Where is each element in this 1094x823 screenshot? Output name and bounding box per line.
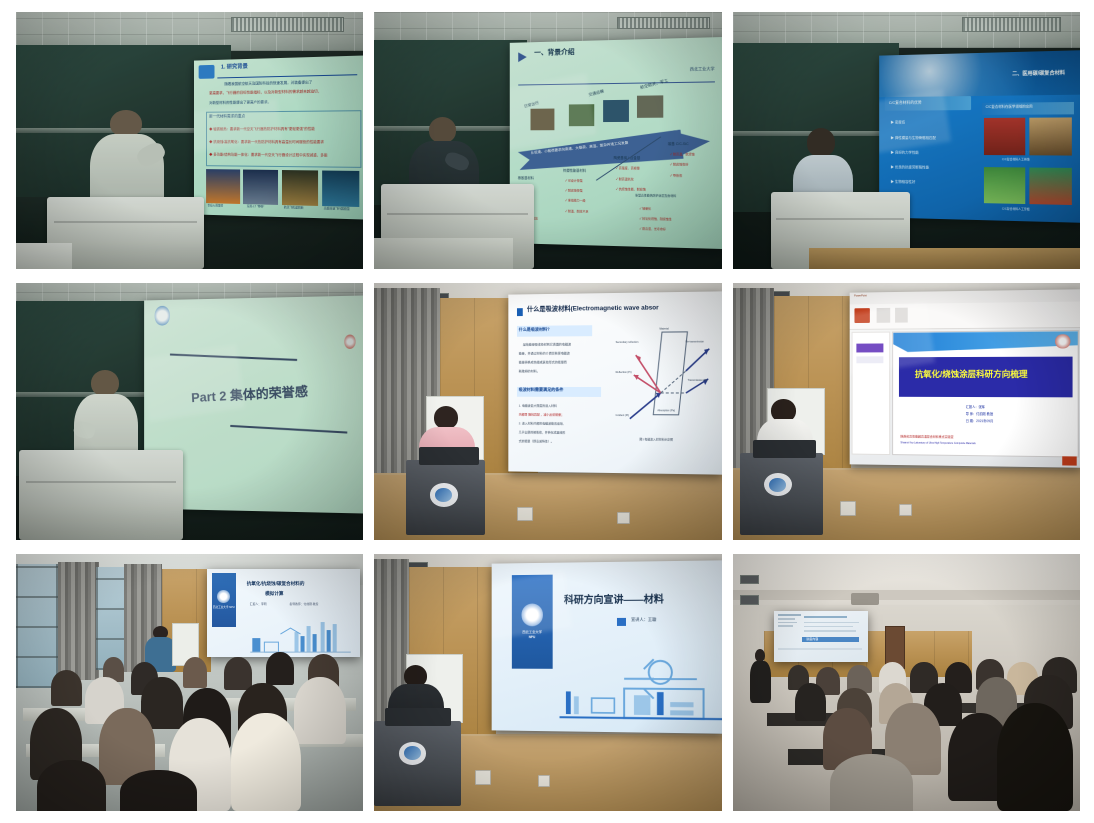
slide-2-col1-i3: ✓ 耐温、耐腐不足 bbox=[565, 210, 588, 213]
slide-2-footnote: 新型高性能热防护涂层及新材料 bbox=[635, 195, 676, 199]
podium-4 bbox=[19, 450, 182, 540]
slide-3-cap0: C/C复合材料人工骨骼 bbox=[1002, 159, 1030, 162]
slide-2-col1-i0: ✓ 可设计性强 bbox=[565, 180, 582, 183]
hall-scene-6: PowerPoint 抗氧化/烧蚀涂层科研方向梳理 汇报人：张辉 bbox=[733, 283, 1080, 540]
slide-6: PowerPoint 抗氧化/烧蚀涂层科研方向梳理 汇报人：张辉 bbox=[850, 289, 1080, 467]
slide-2-org: 西北工业大学 bbox=[690, 67, 715, 72]
slide-5-s2-4: 式的能量（即衰减特性）。 bbox=[519, 440, 554, 443]
audience-scene-9: 讲座内容 bbox=[733, 554, 1080, 811]
slide-6-org-en: Shaanxi Key Laboratory of Ultra-High Tem… bbox=[901, 442, 976, 445]
slide-2-fi-2: ✓ 耐高温、长寿命好 bbox=[640, 228, 666, 232]
laptop-5[interactable] bbox=[419, 447, 478, 465]
slide-8-logo-en: NPU bbox=[529, 636, 536, 639]
slide-2-tl-2: 航空航天、军工 bbox=[640, 79, 669, 90]
slide-1-cap-2: 航天飞机返回舱 bbox=[284, 207, 304, 210]
laptop-6[interactable] bbox=[753, 440, 816, 458]
photo-1[interactable]: 1. 研究背景 随着我国航空航天及国防科技的快速发展，对装备提出了 更高要求，飞… bbox=[16, 12, 363, 269]
slide-7-illustration-icon bbox=[244, 614, 357, 654]
slide-5-dl-2: Re-transmission bbox=[686, 342, 704, 345]
slide-1: 1. 研究背景 随着我国航空航天及国防科技的快速发展，对装备提出了 更高要求，飞… bbox=[194, 55, 364, 220]
slide-6-org-cn: 陕西省高性能超高温复合材料重点实验室 bbox=[901, 435, 954, 439]
photo-8[interactable]: 西北工业大学 NPU 科研方向宣讲——材料 宣讲人：王璇 bbox=[374, 554, 721, 811]
photo-grid: 1. 研究背景 随着我国航空航天及国防科技的快速发展，对装备提出了 更高要求，飞… bbox=[16, 12, 1080, 811]
slide-3-b3: ▶ 优良的抗疲劳断裂性能 bbox=[891, 166, 929, 170]
audience-head bbox=[37, 760, 106, 811]
slide-5: 什么是吸波材料(Electromagnetic wave absor 什么是吸波… bbox=[509, 292, 722, 475]
projector-screen-5: 什么是吸波材料(Electromagnetic wave absor 什么是吸波… bbox=[509, 292, 722, 475]
projector-screen-1: 1. 研究背景 随着我国航空航天及国防科技的快速发展，对装备提出了 更高要求，飞… bbox=[194, 55, 364, 220]
audience-head bbox=[51, 670, 82, 706]
slide-2-col2-i0: ✓ 高强度、高模量 bbox=[616, 168, 640, 171]
audience-head bbox=[997, 703, 1073, 811]
slide-7-meta-1: 指导教师：付前刚 教授 bbox=[290, 603, 319, 606]
podium-emblem-5 bbox=[430, 483, 458, 506]
ppt-app-label: PowerPoint bbox=[854, 295, 867, 298]
slide-9-title: 讲座内容 bbox=[806, 638, 818, 641]
podium-emblem-6 bbox=[764, 473, 792, 496]
slide-2-col3-i2: ✓ 导热性 bbox=[670, 174, 682, 177]
audience-head bbox=[183, 657, 207, 688]
ceiling-projector-icon bbox=[851, 593, 879, 606]
slide-2-col2-i2: ✓ 抗烧蚀性能、耐腐蚀 bbox=[616, 188, 646, 191]
slide-2-col1-i2: ✓ 承载能力一般 bbox=[565, 200, 585, 203]
photo-4[interactable]: Part 2 集体的荣誉感 bbox=[16, 283, 363, 540]
slide-3-right-title: C/C复合材料在医学领域的应用 bbox=[986, 105, 1033, 109]
hall-scene-5: 什么是吸波材料(Electromagnetic wave absor 什么是吸波… bbox=[374, 283, 721, 540]
slide-1-title: 1. 研究背景 bbox=[221, 66, 248, 72]
slide-2-col3-i1: ✓ 耐腐蚀性好 bbox=[670, 164, 688, 167]
classroom-scene-2: 一、背景介绍 西北工业大学 日常出行 交通运输 航空航天、军工 从低速、小载荷要… bbox=[374, 12, 721, 269]
slide-5-s2-1: 内部即 阻抗匹配 ，减小反射能量； bbox=[519, 413, 564, 416]
slide-6-meta-0: 汇报人：张辉 bbox=[966, 405, 985, 408]
ppt-logo-icon bbox=[1055, 334, 1070, 349]
slide-8: 西北工业大学 NPU 科研方向宣讲——材料 宣讲人：王璇 bbox=[492, 560, 722, 733]
audience-head bbox=[795, 683, 826, 722]
slide-2-col2-i1: ✓ 耐高温氧化 bbox=[616, 178, 634, 181]
slide-5-s2-title: 吸波材料需要满足的条件 bbox=[519, 389, 564, 393]
projector-screen-6: PowerPoint 抗氧化/烧蚀涂层科研方向梳理 汇报人：张辉 bbox=[850, 289, 1080, 467]
slide-5-dl-3: Reflection (Pr) bbox=[616, 372, 632, 375]
projector-screen-7: 西北工业大学 NPU 抗氧化/抗烧蚀/碳复合材料的 模拟计算 汇报人：李明 指导… bbox=[207, 569, 360, 656]
slide-5-title: 什么是吸波材料(Electromagnetic wave absor bbox=[527, 305, 659, 313]
slide-1-cap-0: 长征火箭发射 bbox=[207, 205, 223, 208]
slide-7-logo-text: 西北工业大学 NPU bbox=[213, 607, 235, 610]
hall-scene-8: 西北工业大学 NPU 科研方向宣讲——材料 宣讲人：王璇 bbox=[374, 554, 721, 811]
slide-6-meta-2: 日 期：2021年09月 bbox=[966, 420, 994, 423]
slide-5-s1-0: 是指能够吸收投射到它表面的电磁波 bbox=[523, 344, 571, 347]
audience-scene-7: 西北工业大学 NPU 抗氧化/抗烧蚀/碳复合材料的 模拟计算 汇报人：李明 指导… bbox=[16, 554, 363, 811]
audience-head bbox=[294, 677, 346, 744]
slide-5-s1-1: 能量，并通过材料的介质损耗使电磁波 bbox=[519, 353, 570, 356]
slide-2-title: 一、背景介绍 bbox=[534, 49, 574, 57]
slide-6-meta-1: 导 师：付前刚 教授 bbox=[966, 413, 993, 416]
slide-1-cap-3: 高超音速飞行器模型 bbox=[323, 208, 349, 212]
slide-7-title-1: 抗氧化/抗烧蚀/碳复合材料的 bbox=[247, 582, 305, 587]
photo-6[interactable]: PowerPoint 抗氧化/烧蚀涂层科研方向梳理 汇报人：张辉 bbox=[733, 283, 1080, 540]
photo-5[interactable]: 什么是吸波材料(Electromagnetic wave absor 什么是吸波… bbox=[374, 283, 721, 540]
slide-5-s2-0: 1. 电磁波最大限度的进入材料 bbox=[519, 404, 557, 407]
slide-5-dl-5: Incident (Pi) bbox=[616, 415, 629, 418]
slide-2-col0-head: 橡胶基材料 bbox=[518, 177, 534, 180]
slide-2-col3-head: 碳基 C/C-SiC bbox=[668, 143, 689, 146]
slide-1-body-1: 更高要求，飞行器的目标性能指标，以及对新型材料的需求越来越迫切， bbox=[209, 91, 321, 96]
slide-8-speaker: 宣讲人：王璇 bbox=[631, 617, 656, 621]
slide-5-diagram: Secondary reflection Material Re-transmi… bbox=[614, 321, 714, 449]
slide-5-s2-3: 几乎全部的被吸收，并转化成其他形 bbox=[519, 431, 566, 434]
slide-3-b2: ▶ 良好的力学性能 bbox=[891, 151, 919, 155]
presenter-9 bbox=[750, 649, 771, 700]
projector-screen-2: 一、背景介绍 西北工业大学 日常出行 交通运输 航空航天、军工 从低速、小载荷要… bbox=[510, 37, 722, 249]
photo-7[interactable]: 西北工业大学 NPU 抗氧化/抗烧蚀/碳复合材料的 模拟计算 汇报人：李明 指导… bbox=[16, 554, 363, 811]
classroom-scene-4: Part 2 集体的荣誉感 bbox=[16, 283, 363, 540]
audience-head bbox=[231, 713, 300, 811]
slide-5-dcap: 图1 电磁波入射材料示意图 bbox=[640, 438, 673, 441]
slide-9: 讲座内容 bbox=[774, 611, 868, 662]
projector-screen-8: 西北工业大学 NPU 科研方向宣讲——材料 宣讲人：王璇 bbox=[492, 560, 722, 733]
slide-5-s1-3: 耗散掉的材料。 bbox=[519, 371, 540, 374]
corner-badge-icon bbox=[345, 335, 357, 349]
audience-head bbox=[830, 754, 913, 811]
audience-head bbox=[120, 770, 196, 811]
photo-3[interactable]: 二、医用碳/碳复合材料 C/C复合材料的优势 ▶ 密度低 ▶ 弹性模量与生物骨骼… bbox=[733, 12, 1080, 269]
npu-logo-icon bbox=[155, 307, 170, 326]
slide-7: 西北工业大学 NPU 抗氧化/抗烧蚀/碳复合材料的 模拟计算 汇报人：李明 指导… bbox=[207, 569, 360, 656]
slide-2-col1-i1: ✓ 耐腐蚀性强 bbox=[565, 190, 582, 193]
slide-3-b4: ▶ 生物相容性好 bbox=[891, 180, 916, 184]
slide-7-logo-panel: 西北工业大学 NPU bbox=[212, 573, 236, 627]
classroom-scene-3: 二、医用碳/碳复合材料 C/C复合材料的优势 ▶ 密度低 ▶ 弹性模量与生物骨骼… bbox=[733, 12, 1080, 269]
classroom-scene-1: 1. 研究背景 随着我国航空航天及国防科技的快速发展，对装备提出了 更高要求，飞… bbox=[16, 12, 363, 269]
slide-5-dl-0: Secondary reflection bbox=[616, 342, 639, 345]
slide-6-title: 抗氧化/烧蚀涂层科研方向梳理 bbox=[915, 370, 1028, 379]
slide-1-cap-1: 东风-17 "导弹" bbox=[246, 206, 263, 209]
slide-5-dl-1: Material bbox=[660, 329, 669, 332]
slide-3-cap1: C/C复合材料人工牙根 bbox=[1002, 207, 1030, 210]
slide-2-col1-head: 热塑性聚基材料 bbox=[563, 169, 586, 173]
audience-head bbox=[224, 657, 252, 690]
slide-5-dl-4: Transmission (Pt) bbox=[688, 380, 708, 383]
slide-2-fi-0: ✓ 轻量化 bbox=[640, 207, 652, 210]
slide-2-col3-i0: ✓ 耐高温、抗烧蚀 bbox=[670, 153, 695, 156]
slide-8-title: 科研方向宣讲——材料 bbox=[564, 595, 664, 606]
slide-5-dl-6: Absorption (Pa) bbox=[658, 410, 676, 413]
slide-1-body-0: 随着我国航空航天及国防科技的快速发展，对装备提出了 bbox=[224, 81, 312, 86]
slide-5-s2-2: 2. 进入材料内部的电磁波能迅速地、 bbox=[519, 422, 566, 425]
slide-7-meta-0: 汇报人：李明 bbox=[250, 603, 267, 606]
podium-emblem-8 bbox=[399, 742, 427, 765]
audience-head bbox=[266, 652, 294, 685]
projector-screen-9: 讲座内容 bbox=[774, 611, 868, 662]
slide-8-illustration-icon bbox=[559, 647, 721, 727]
slide-2: 一、背景介绍 西北工业大学 日常出行 交通运输 航空航天、军工 从低速、小载荷要… bbox=[510, 37, 722, 249]
slide-7-title-2: 模拟计算 bbox=[265, 592, 283, 597]
photo-9[interactable]: 讲座内容 bbox=[733, 554, 1080, 811]
photo-2[interactable]: 一、背景介绍 西北工业大学 日常出行 交通运输 航空航天、军工 从低速、小载荷要… bbox=[374, 12, 721, 269]
slide-2-tl-1: 交通运输 bbox=[588, 90, 604, 98]
slide-5-s1-title: 什么是吸波材料? bbox=[519, 328, 550, 332]
laptop-8[interactable] bbox=[385, 708, 451, 726]
slide-2-fi-1: ✓ 抗氧化烧蚀、耐腐蚀性 bbox=[640, 218, 672, 222]
slide-5-s1-2: 能量转换成热能或其他形式的能量而 bbox=[519, 362, 567, 365]
